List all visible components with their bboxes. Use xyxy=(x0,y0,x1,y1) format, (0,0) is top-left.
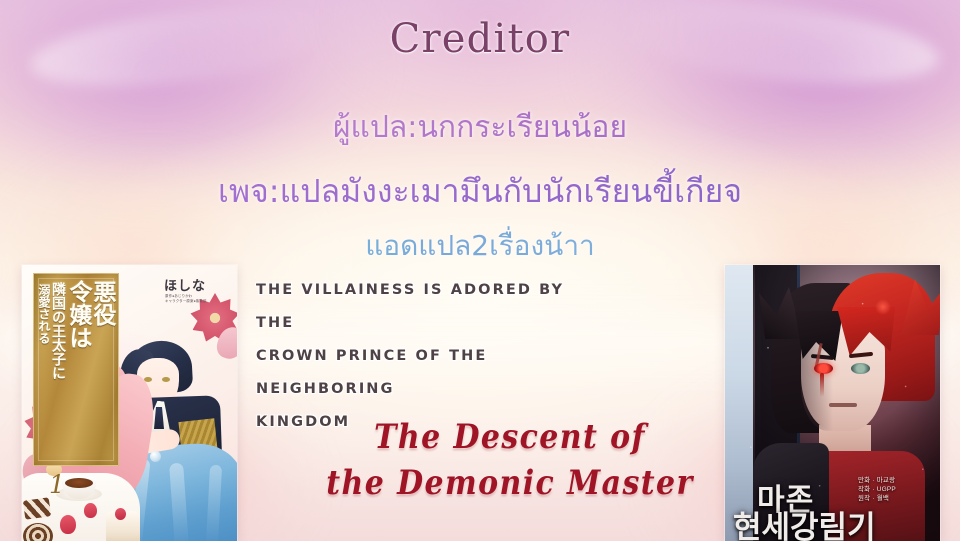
demonic-master-title-line-2: the Demonic Master xyxy=(300,458,720,510)
prince-eye-right xyxy=(162,377,170,382)
tea-liquid xyxy=(65,478,93,488)
banner-canvas: Creditor ผู้แปล:นกกระเรียนน้อย เพจ:แปลมั… xyxy=(0,0,960,541)
cover-right-credit-line-1: 만화 · 마교랑 xyxy=(858,476,928,485)
cover-villainess[interactable]: 悪役 令嬢は 隣国の王太子に 溺愛される 1 ほしな 原作●あじりかわ キャラク… xyxy=(22,265,237,541)
chocolate-bar-icon xyxy=(23,497,51,519)
cover-left-credits: 原作●あじりかわ キャラクター原案●紫真依 xyxy=(165,294,225,304)
translator-credit-line: ผู้แปล:นกกระเรียนน้อย xyxy=(0,104,960,151)
page-credit-line: เพจ:แปลมังงะเมามึนกับนักเรียนขี้เกียจ xyxy=(0,166,960,217)
volume-number: 1 xyxy=(49,470,65,499)
cover-left-credit-line-2: キャラクター原案●紫真依 xyxy=(165,299,225,304)
demonic-master-title-block: The Descent of the Demonic Master xyxy=(300,412,720,504)
jp-title-col-2: 令嬢は xyxy=(66,280,89,459)
cover-left-title-plaque: 悪役 令嬢は 隣国の王太子に 溺愛される xyxy=(33,273,119,466)
cover-left-author: ほしな xyxy=(164,275,206,294)
villainess-title-line-1: THE VILLAINESS IS ADORED BY THE xyxy=(256,274,606,340)
strawberry-icon-1 xyxy=(60,515,76,534)
japanese-title-columns: 悪役 令嬢は 隣国の王太子に 溺愛される xyxy=(39,280,113,459)
villainess-title-line-2: CROWN PRINCE OF THE NEIGHBORING xyxy=(256,340,606,406)
jp-title-col-3: 隣国の王太子に xyxy=(51,280,65,459)
kr-title-line-2: 현세강림기 xyxy=(733,514,883,541)
cover-right-title: 마존 현세강림기 xyxy=(733,487,883,541)
jp-title-col-1: 悪役 xyxy=(90,280,113,459)
cover-demonic-master[interactable]: 만화 · 마교랑 작화 · UGPP 원작 · 월백 마존 현세강림기 xyxy=(725,265,940,541)
cake-strawberry-icon xyxy=(115,508,126,520)
demonic-master-title-line-1: The Descent of xyxy=(300,412,720,464)
dress-brooch-icon xyxy=(150,451,161,462)
admin-note-line: แอดแปล2เรื่องน้าา xyxy=(0,224,960,268)
jp-title-col-4: 溺愛される xyxy=(38,280,50,459)
page-title: Creditor xyxy=(0,16,960,62)
strawberry-icon-2 xyxy=(84,503,97,518)
